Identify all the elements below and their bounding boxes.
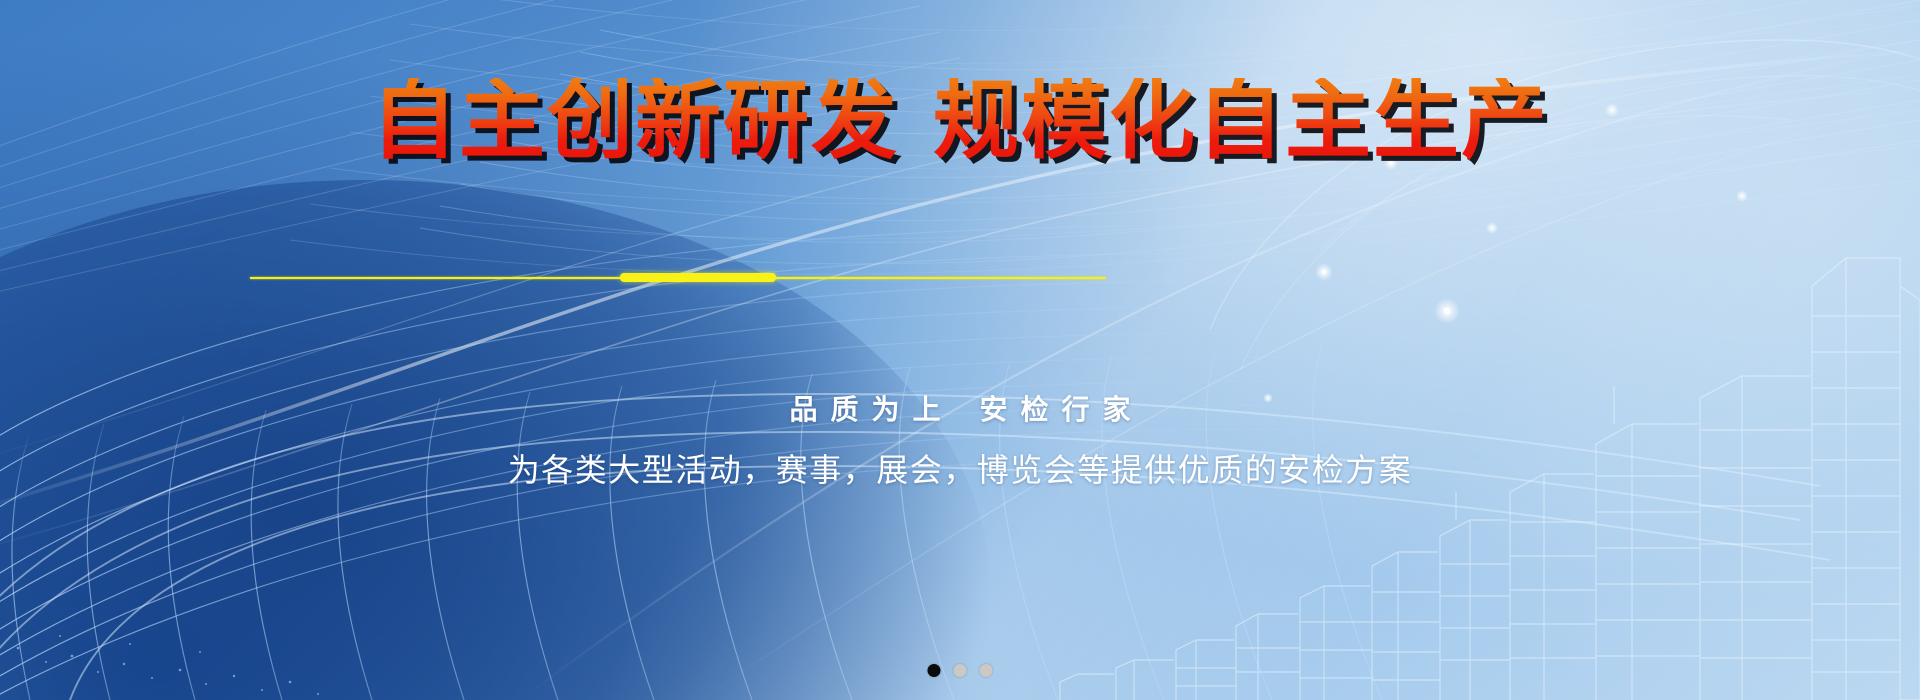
headline-part-2: 规模化自主生产 bbox=[933, 71, 1549, 171]
hero-banner: 自主创新研发规模化自主生产 品质为上安检行家 为各类大型活动，赛事，展会，博览会… bbox=[0, 0, 1920, 700]
subtitle-right: 安检行家 bbox=[980, 393, 1144, 426]
banner-tagline: 为各类大型活动，赛事，展会，博览会等提供优质的安检方案 bbox=[0, 445, 1920, 491]
banner-headline: 自主创新研发规模化自主生产 bbox=[0, 78, 1920, 164]
banner-subtitle: 品质为上安检行家 bbox=[0, 388, 1920, 428]
carousel-dot-2[interactable] bbox=[954, 664, 967, 677]
headline-part-1: 自主创新研发 bbox=[371, 71, 899, 171]
yellow-divider bbox=[250, 276, 1106, 279]
divider-thick-segment bbox=[620, 273, 776, 282]
banner-content: 自主创新研发规模化自主生产 品质为上安检行家 为各类大型活动，赛事，展会，博览会… bbox=[0, 0, 1920, 700]
subtitle-left: 品质为上 bbox=[789, 393, 953, 426]
carousel-indicators[interactable] bbox=[928, 664, 993, 677]
carousel-dot-1[interactable] bbox=[928, 664, 941, 677]
carousel-dot-3[interactable] bbox=[980, 664, 993, 677]
